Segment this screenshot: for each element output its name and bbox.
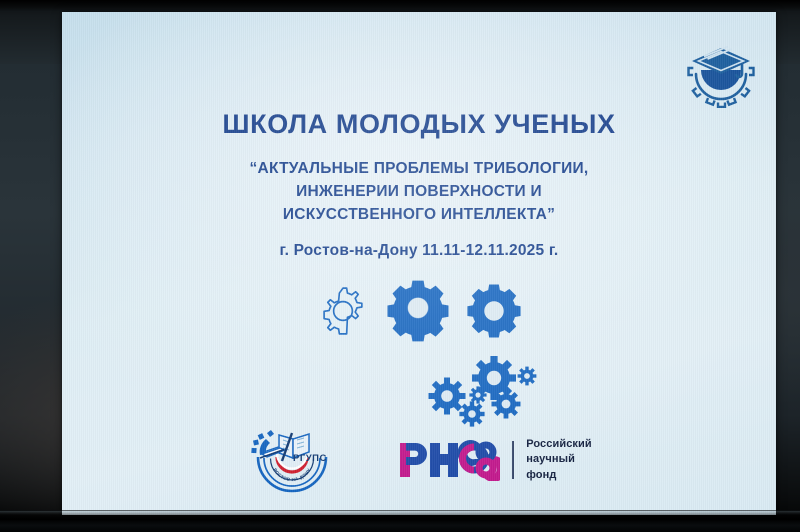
- gear-cluster: [414, 352, 554, 430]
- subtitle-block: “АКТУАЛЬНЫЕ ПРОБЛЕМЫ ТРИБОЛОГИИ, ИНЖЕНЕР…: [62, 157, 776, 227]
- gear-outline-icon: [317, 285, 369, 342]
- photo-top-bar: [0, 0, 800, 12]
- rnf-word-line-2: научный: [526, 452, 592, 468]
- gear-row: [62, 280, 776, 347]
- rnf-wordmark: Российский научный фонд: [526, 437, 592, 484]
- subtitle-line-2: ИНЖЕНЕРИИ ПОВЕРХНОСТИ И: [62, 180, 776, 203]
- rgups-acronym: РГУПС: [293, 453, 327, 464]
- rnf-word-line-1: Российский: [526, 437, 592, 453]
- rnf-monogram-mark: [396, 439, 500, 481]
- subtitle-line-1: “АКТУАЛЬНЫЕ ПРОБЛЕМЫ ТРИБОЛОГИИ,: [62, 157, 776, 180]
- projector-photo: ШКОЛА МОЛОДЫХ УЧЕНЫХ “АКТУАЛЬНЫЕ ПРОБЛЕМ…: [0, 0, 800, 532]
- russian-science-foundation-logo: Российский научный фонд: [396, 437, 592, 484]
- rnf-divider: [512, 441, 514, 479]
- presentation-slide: ШКОЛА МОЛОДЫХ УЧЕНЫХ “АКТУАЛЬНЫЕ ПРОБЛЕМ…: [62, 12, 776, 515]
- gear-filled-ring-icon: [387, 280, 449, 347]
- photo-bottom-bar: [0, 510, 800, 532]
- rgups-university-logo: РГУПС РОСТОВ-НА-ДОНУ: [246, 427, 338, 493]
- page-title: ШКОЛА МОЛОДЫХ УЧЕНЫХ: [62, 110, 776, 140]
- logo-row: РГУПС РОСТОВ-НА-ДОНУ: [62, 427, 776, 493]
- gear-filled-hole-icon: [467, 284, 521, 343]
- rgups-arc-text: РОСТОВ-НА-ДОНУ: [273, 467, 312, 482]
- subtitle-line-3: ИСКУССТВЕННОГО ИНТЕЛЛЕКТА”: [62, 203, 776, 226]
- title-block: ШКОЛА МОЛОДЫХ УЧЕНЫХ “АКТУАЛЬНЫЕ ПРОБЛЕМ…: [62, 110, 776, 260]
- graduation-cap-gear-emblem: [684, 34, 758, 108]
- rnf-word-line-3: фонд: [526, 468, 592, 484]
- event-date-location: г. Ростов-на-Дону 11.11-12.11.2025 г.: [62, 242, 776, 260]
